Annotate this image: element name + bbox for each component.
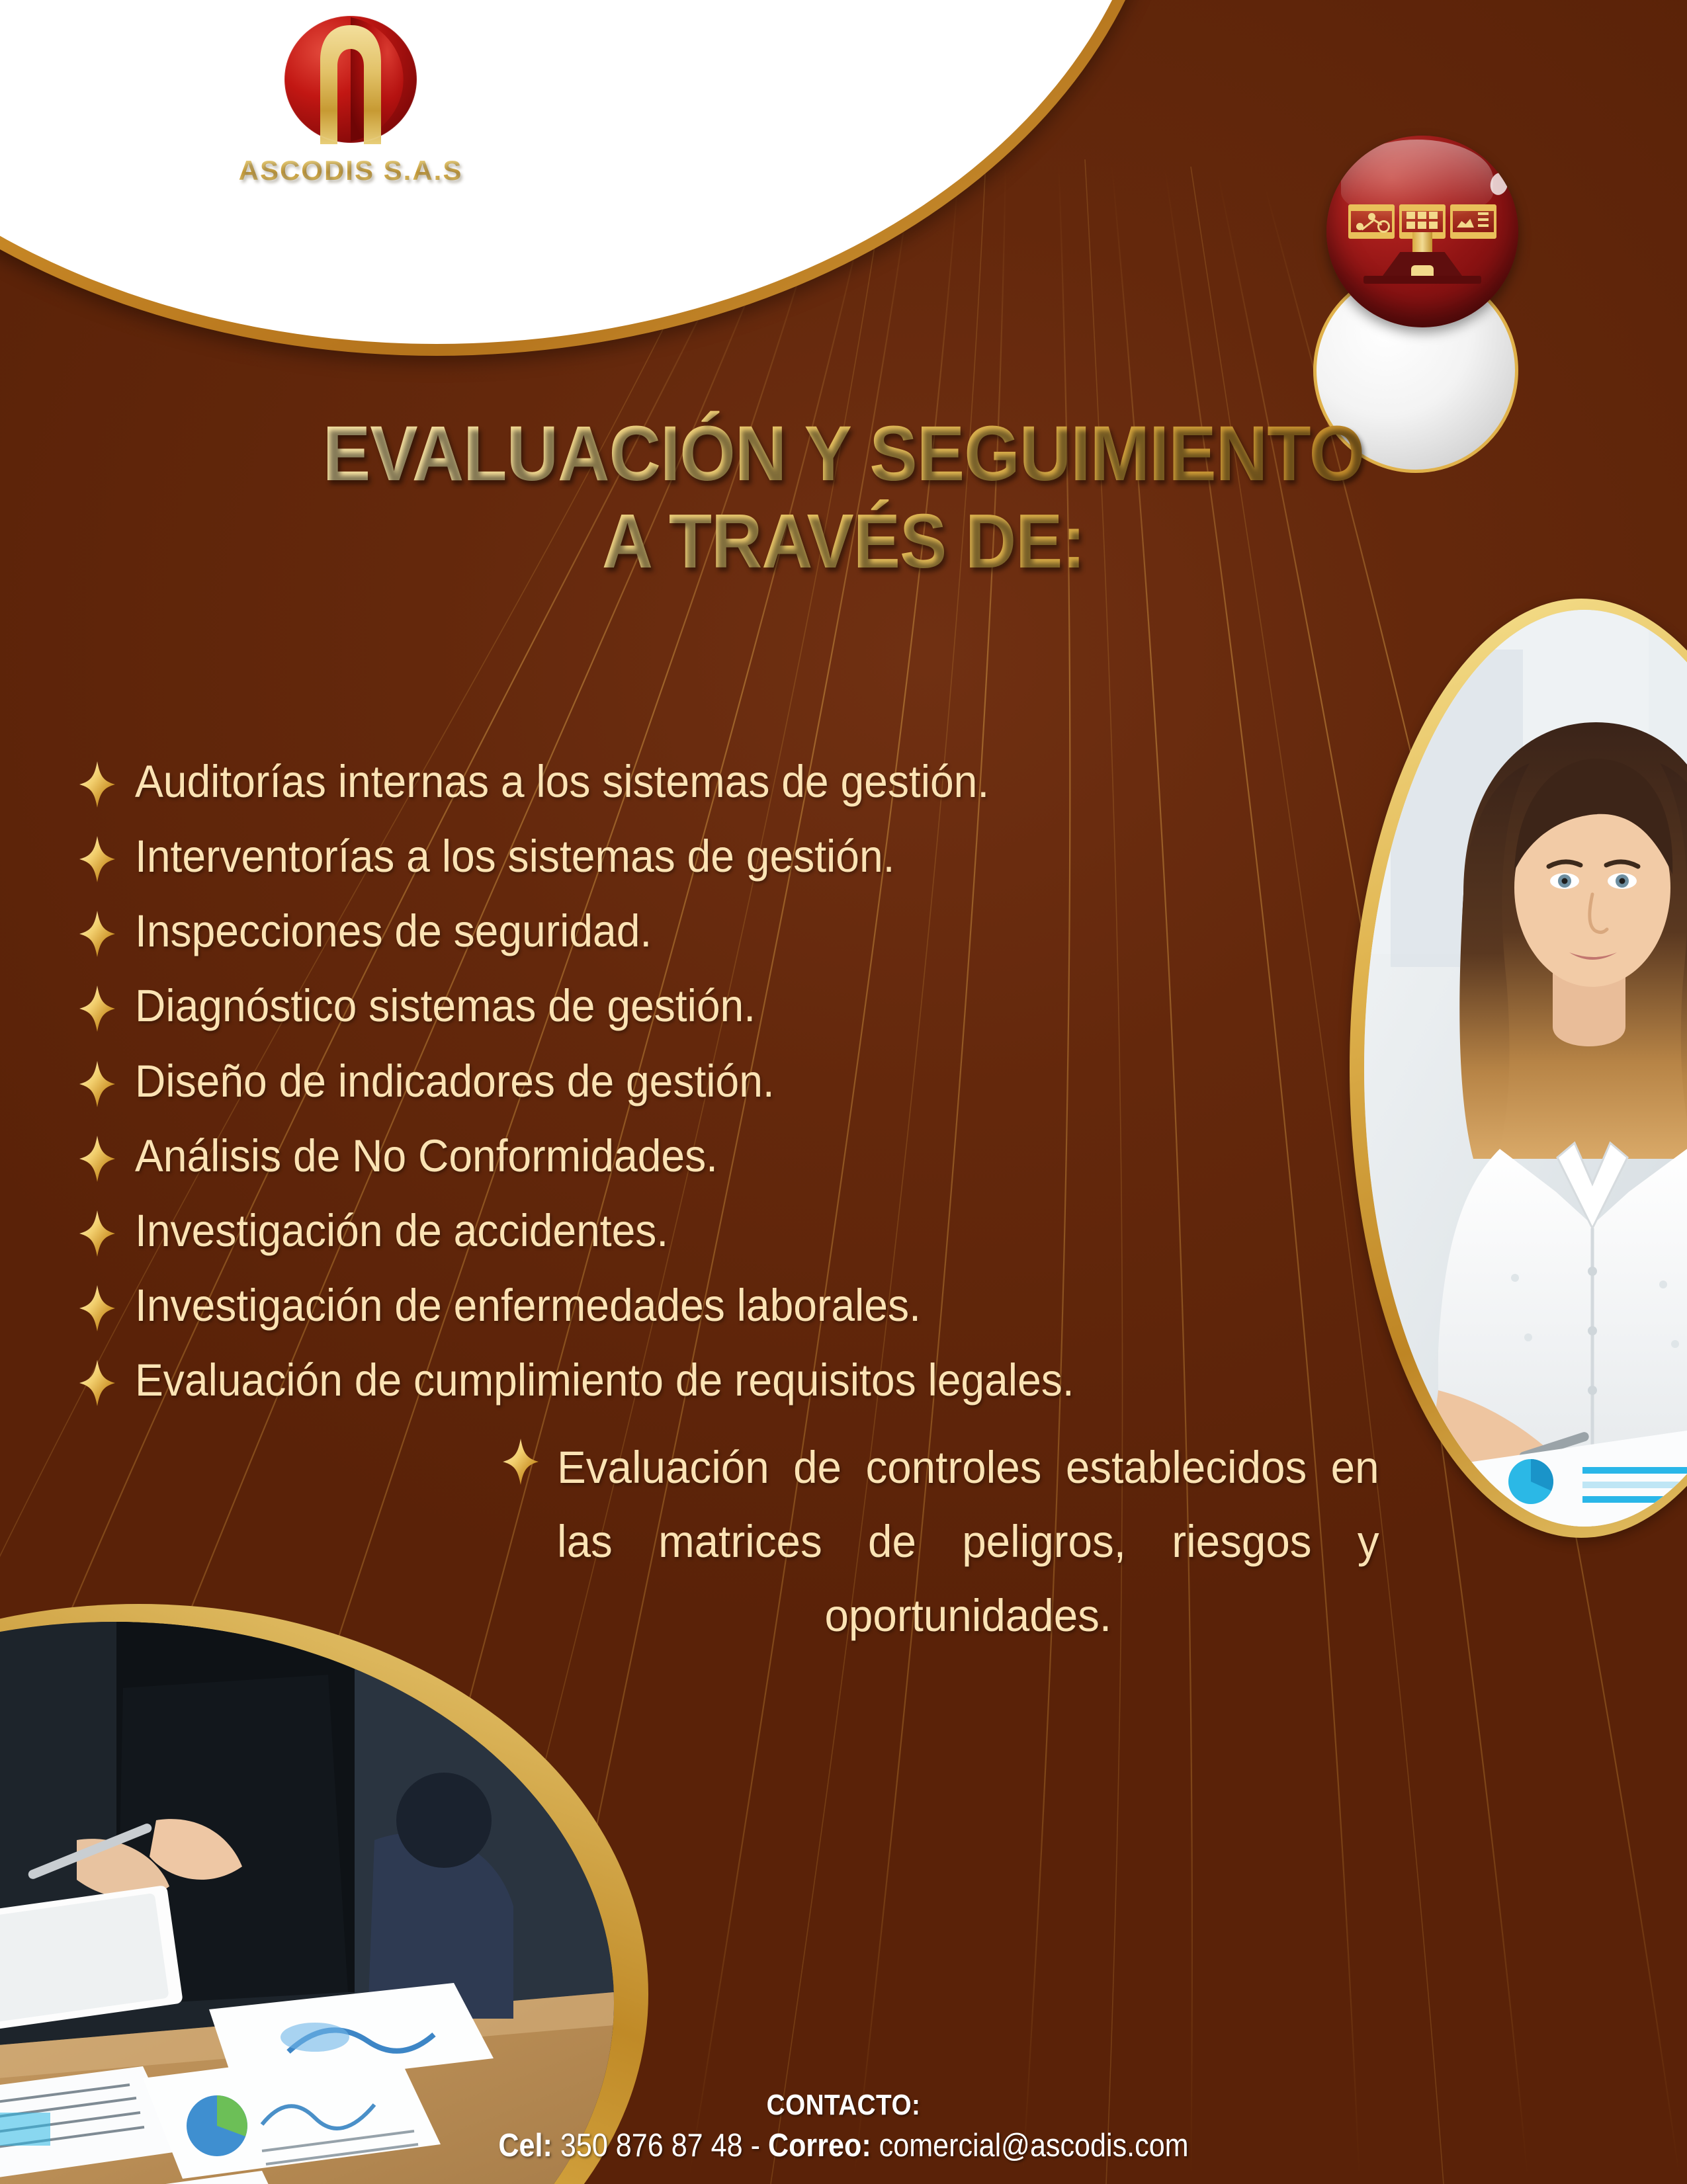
- four-point-star-bullet-icon: [79, 986, 115, 1032]
- list-item: Investigación de accidentes.: [79, 1206, 1442, 1255]
- list-item-label: Investigación de accidentes.: [135, 1206, 668, 1255]
- email-label: Correo:: [768, 2128, 871, 2163]
- list-item-label: Inspecciones de seguridad.: [135, 907, 652, 955]
- four-point-star-bullet-icon: [79, 1136, 115, 1182]
- brand-name: ASCODIS S.A.S: [212, 155, 490, 187]
- four-point-star-bullet-icon: [79, 1360, 115, 1406]
- four-point-star-bullet-icon: [79, 1285, 115, 1331]
- phone-number[interactable]: 350 876 87 48: [560, 2128, 743, 2163]
- list-item-label: Interventorías a los sistemas de gestión…: [135, 832, 895, 880]
- separator: -: [751, 2128, 760, 2163]
- title-line-1: EVALUACIÓN Y SEGUIMIENTO: [67, 410, 1620, 498]
- contact-details: Cel: 350 876 87 48 - Correo: comercial@a…: [101, 2127, 1586, 2164]
- list-item: Inspecciones de seguridad.: [79, 907, 1442, 955]
- list-item: Auditorías internas a los sistemas de ge…: [79, 757, 1442, 806]
- list-item-label: Investigación de enfermedades laborales.: [135, 1281, 921, 1329]
- list-item-label: Análisis de No Conformidades.: [135, 1132, 718, 1180]
- phone-label: Cel:: [498, 2128, 552, 2163]
- services-list: Auditorías internas a los sistemas de ge…: [79, 757, 1442, 1652]
- contact-block: CONTACTO: Cel: 350 876 87 48 - Correo: c…: [0, 2089, 1687, 2164]
- podium-icon: [1366, 232, 1479, 284]
- list-item-label: Auditorías internas a los sistemas de ge…: [135, 757, 989, 806]
- poster-root: ASCODIS S.A.S: [0, 0, 1687, 2184]
- list-item: Interventorías a los sistemas de gestión…: [79, 832, 1442, 880]
- list-item: Investigación de enfermedades laborales.: [79, 1281, 1442, 1329]
- list-item: Diseño de indicadores de gestión.: [79, 1057, 1442, 1105]
- four-point-star-bullet-icon: [503, 1439, 539, 1485]
- list-item-label: Diseño de indicadores de gestión.: [135, 1057, 775, 1105]
- four-point-star-bullet-icon: [79, 761, 115, 808]
- list-item-label: Diagnóstico sistemas de gestión.: [135, 982, 756, 1030]
- list-item-justified: Evaluación de controles establecidos en …: [79, 1431, 1422, 1652]
- brand-logo: ASCODIS S.A.S: [212, 13, 490, 212]
- contact-heading: CONTACTO:: [101, 2089, 1586, 2122]
- list-item-label: Evaluación de controles establecidos en …: [557, 1431, 1379, 1652]
- four-point-star-bullet-icon: [79, 1210, 115, 1257]
- page-title: EVALUACIÓN Y SEGUIMIENTO A TRAVÉS DE:: [0, 410, 1687, 585]
- presentation-board-sphere-badge-icon: [1326, 136, 1518, 327]
- four-point-star-bullet-icon: [79, 1061, 115, 1107]
- ascodis-sphere-logo-icon: [265, 13, 437, 152]
- list-item: Diagnóstico sistemas de gestión.: [79, 982, 1442, 1030]
- email-address[interactable]: comercial@ascodis.com: [879, 2128, 1189, 2163]
- list-item: Evaluación de cumplimiento de requisitos…: [79, 1356, 1442, 1404]
- list-item-label: Evaluación de cumplimiento de requisitos…: [135, 1356, 1074, 1404]
- list-item: Análisis de No Conformidades.: [79, 1132, 1442, 1180]
- four-point-star-bullet-icon: [79, 911, 115, 957]
- title-line-2: A TRAVÉS DE:: [67, 498, 1620, 585]
- four-point-star-bullet-icon: [79, 836, 115, 882]
